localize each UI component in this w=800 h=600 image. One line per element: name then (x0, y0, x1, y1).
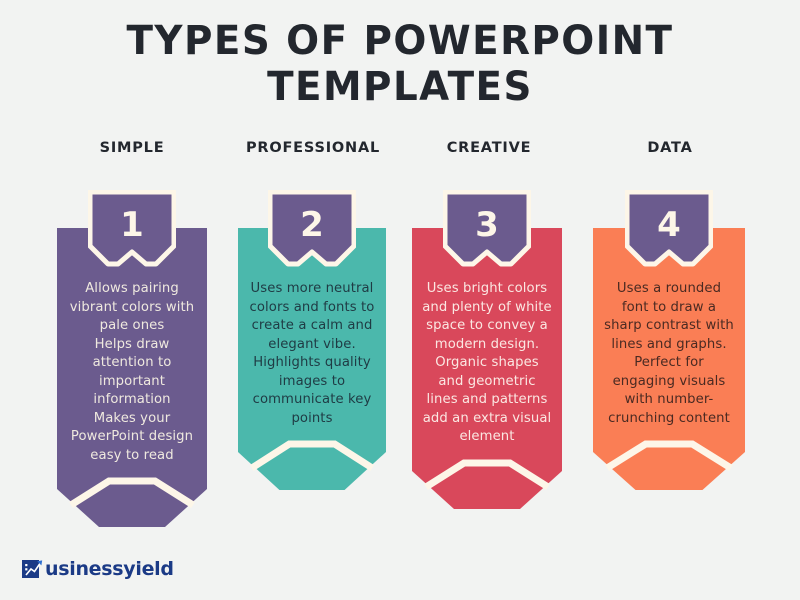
page-title: Types of PowerPoint Templates (0, 18, 800, 110)
column-headers: Simple Professional Creative Data (0, 140, 800, 164)
column-description: Allows pairing vibrant colors with pale … (67, 280, 197, 465)
column-body: Uses more neutral colors and fonts to cr… (238, 228, 386, 496)
column-description: Uses more neutral colors and fonts to cr… (248, 280, 376, 428)
column-header-simple: Simple (32, 140, 232, 156)
badge-number: 1 (88, 190, 176, 260)
footer-hexagon-shape (593, 438, 745, 496)
column-footer-point (412, 457, 562, 515)
info-column-simple[interactable]: Allows pairing vibrant colors with pale … (57, 228, 207, 533)
column-footer-point (57, 475, 207, 533)
column-footer-point (593, 438, 745, 496)
footer-hexagon-shape (57, 475, 207, 533)
badge-number: 2 (268, 190, 356, 260)
footer-hexagon-shape (238, 438, 386, 496)
badge-number: 3 (443, 190, 531, 260)
column-number-badge: 1 (88, 190, 176, 274)
column-header-creative: Creative (389, 140, 589, 156)
logo-wordmark: usinessyield (45, 558, 174, 580)
info-column-professional[interactable]: Uses more neutral colors and fonts to cr… (238, 228, 386, 496)
slide-canvas: Types of PowerPoint Templates Simple Pro… (0, 0, 800, 600)
column-footer-point (238, 438, 386, 496)
column-number-badge: 2 (268, 190, 356, 274)
column-number-badge: 4 (625, 190, 713, 274)
column-header-professional: Professional (213, 140, 413, 156)
column-body: Allows pairing vibrant colors with pale … (57, 228, 207, 533)
footer-hexagon-shape (412, 457, 562, 515)
brand-logo[interactable]: usinessyield (22, 556, 174, 582)
businessyield-logo-icon (22, 558, 44, 580)
column-header-data: Data (570, 140, 770, 156)
info-column-creative[interactable]: Uses bright colors and plenty of white s… (412, 228, 562, 515)
column-number-badge: 3 (443, 190, 531, 274)
column-body: Uses a rounded font to draw a sharp cont… (593, 228, 745, 496)
column-body: Uses bright colors and plenty of white s… (412, 228, 562, 515)
badge-number: 4 (625, 190, 713, 260)
title-line-2: Templates (12, 64, 788, 110)
column-description: Uses bright colors and plenty of white s… (422, 280, 552, 447)
column-description: Uses a rounded font to draw a sharp cont… (603, 280, 735, 428)
title-line-1: Types of PowerPoint (12, 18, 788, 64)
info-column-data[interactable]: Uses a rounded font to draw a sharp cont… (593, 228, 745, 496)
